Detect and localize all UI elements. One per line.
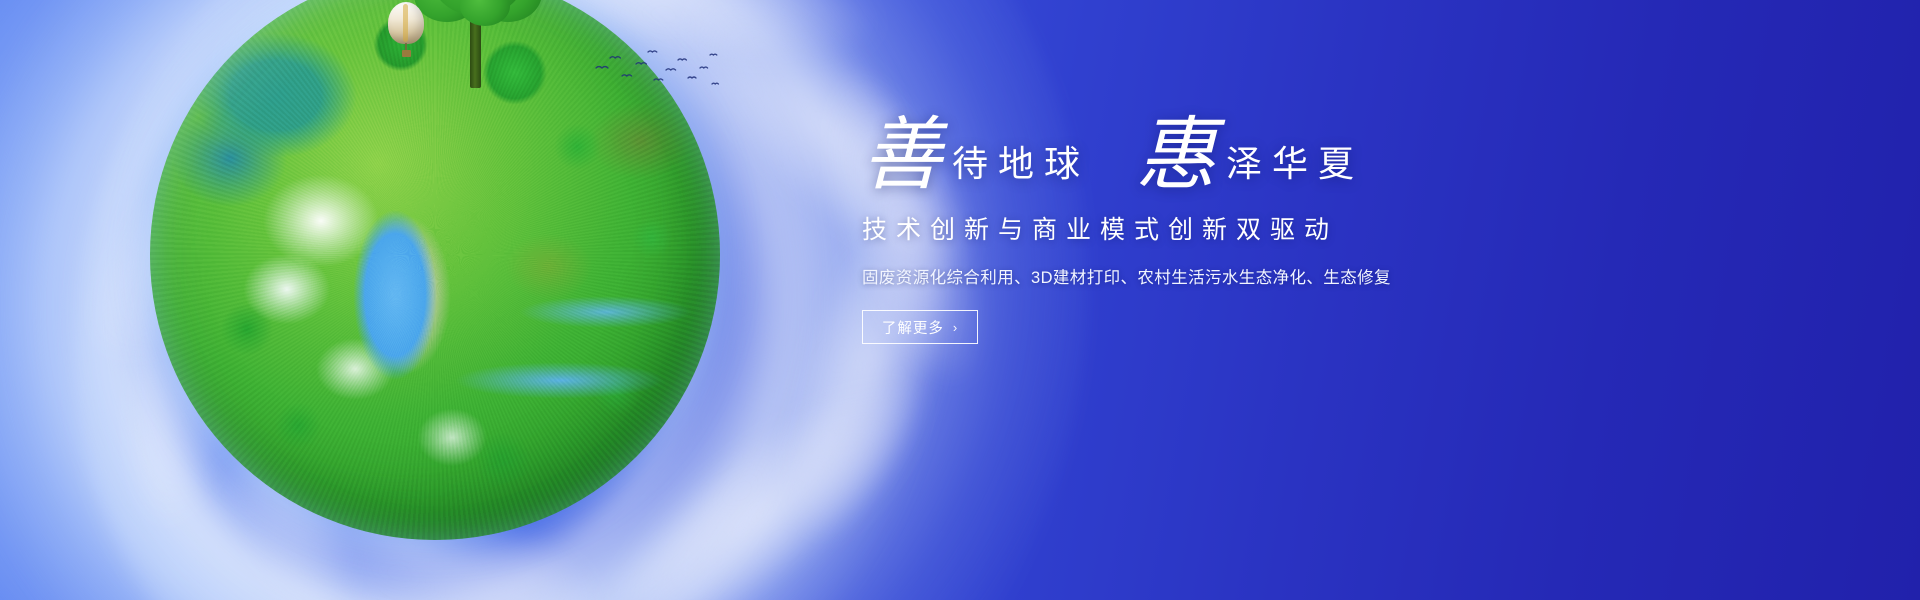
learn-more-label: 了解更多 (882, 317, 944, 338)
hot-air-balloon-icon (388, 2, 424, 60)
hero-content: 善 待地球 惠 泽华夏 技术创新与商业模式创新双驱动 固废资源化综合利用、3D建… (862, 118, 1502, 344)
headline-phrase1-lead: 善 (862, 118, 942, 194)
headline-phrase2-lead: 惠 (1136, 118, 1216, 194)
tree-canopy (460, 0, 510, 26)
page-subtitle: 技术创新与商业模式创新双驱动 (862, 210, 1502, 246)
headline-phrase2-rest: 泽华夏 (1226, 146, 1364, 182)
headline-phrase1-rest: 待地球 (952, 146, 1090, 182)
chevron-right-icon: › (953, 321, 958, 334)
bird-flock-icon (592, 46, 722, 92)
balloon-basket (402, 50, 411, 57)
page-description: 固废资源化综合利用、3D建材打印、农村生活污水生态净化、生态修复 (862, 264, 1502, 288)
tree-icon (412, 0, 542, 84)
hero-banner: 善 待地球 惠 泽华夏 技术创新与商业模式创新双驱动 固废资源化综合利用、3D建… (0, 0, 1920, 600)
learn-more-button[interactable]: 了解更多 › (862, 310, 978, 344)
balloon-stripe (403, 4, 408, 42)
page-title: 善 待地球 惠 泽华夏 (862, 118, 1502, 194)
